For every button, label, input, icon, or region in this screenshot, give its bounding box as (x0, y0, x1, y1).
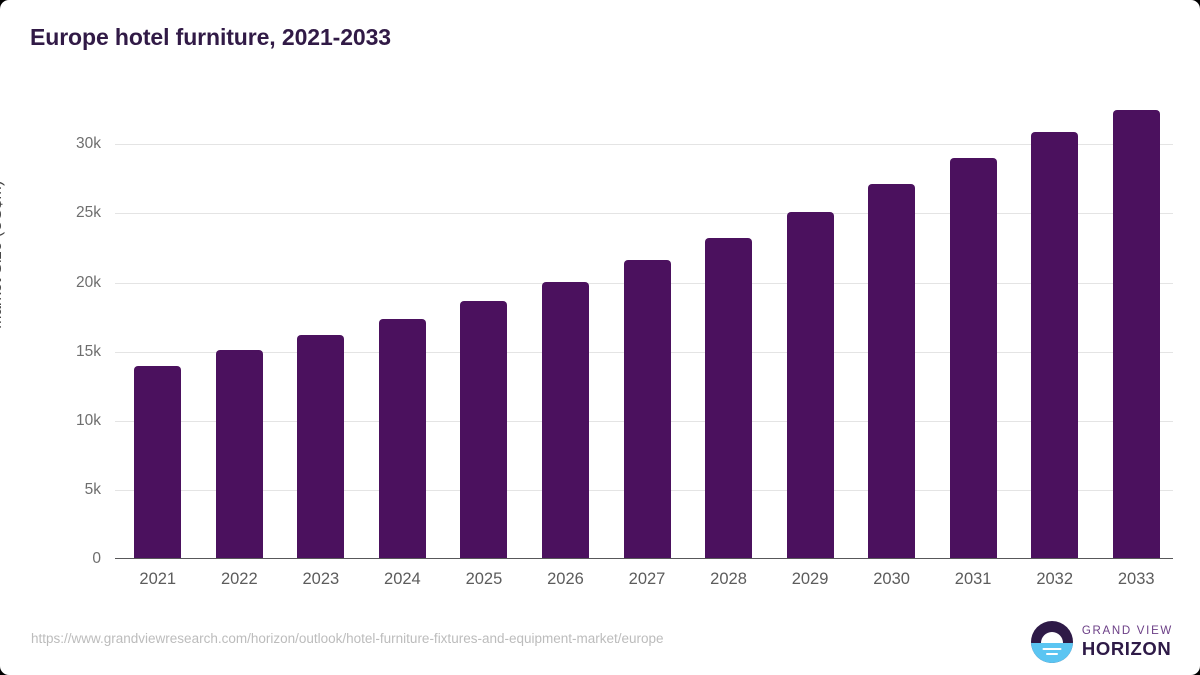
x-tick-label: 2023 (276, 570, 366, 589)
x-tick-label: 2031 (928, 570, 1018, 589)
bar[interactable] (950, 158, 997, 559)
bar[interactable] (624, 260, 671, 559)
y-tick-label: 30k (11, 135, 101, 153)
x-tick-label: 2033 (1091, 570, 1181, 589)
bar[interactable] (542, 282, 589, 559)
x-axis-line (113, 558, 1173, 560)
y-tick-label: 20k (11, 274, 101, 292)
y-axis-title: Market Size (US$M) (0, 180, 6, 329)
x-tick-label: 2021 (113, 570, 203, 589)
x-tick-label: 2032 (1010, 570, 1100, 589)
x-tick-label: 2027 (602, 570, 692, 589)
x-tick-label: 2024 (357, 570, 447, 589)
chart-card: Europe hotel furniture, 2021-2033 Market… (0, 0, 1200, 675)
y-axis-line (113, 96, 115, 559)
x-tick-label: 2022 (194, 570, 284, 589)
logo-text: GRAND VIEW HORIZON (1082, 626, 1173, 659)
x-tick-label: 2028 (684, 570, 774, 589)
plot-area (113, 96, 1173, 559)
bar[interactable] (1031, 132, 1078, 559)
bar[interactable] (460, 301, 507, 559)
bar[interactable] (787, 212, 834, 559)
y-tick-label: 0 (11, 550, 101, 568)
bar[interactable] (297, 335, 344, 559)
logo-sun-dome-shape (1041, 632, 1063, 643)
source-url[interactable]: https://www.grandviewresearch.com/horizo… (31, 631, 664, 646)
bar[interactable] (134, 366, 181, 559)
logo-bottom-text: HORIZON (1082, 640, 1173, 659)
x-tick-label: 2026 (520, 570, 610, 589)
bar-series (113, 96, 1173, 559)
x-tick-label: 2030 (847, 570, 937, 589)
y-tick-label: 25k (11, 204, 101, 222)
horizon-sun-circle-icon (1031, 621, 1073, 663)
bar[interactable] (216, 350, 263, 559)
logo-top-text: GRAND VIEW (1082, 626, 1173, 638)
y-tick-label: 10k (11, 412, 101, 430)
bar[interactable] (705, 238, 752, 559)
bar[interactable] (379, 319, 426, 559)
x-tick-label: 2025 (439, 570, 529, 589)
grand-view-horizon-logo[interactable]: GRAND VIEW HORIZON (1031, 620, 1173, 664)
x-tick-label: 2029 (765, 570, 855, 589)
y-tick-label: 5k (11, 481, 101, 499)
bar[interactable] (868, 184, 915, 559)
bar[interactable] (1113, 110, 1160, 559)
y-tick-label: 15k (11, 343, 101, 361)
page-title: Europe hotel furniture, 2021-2033 (30, 24, 391, 51)
